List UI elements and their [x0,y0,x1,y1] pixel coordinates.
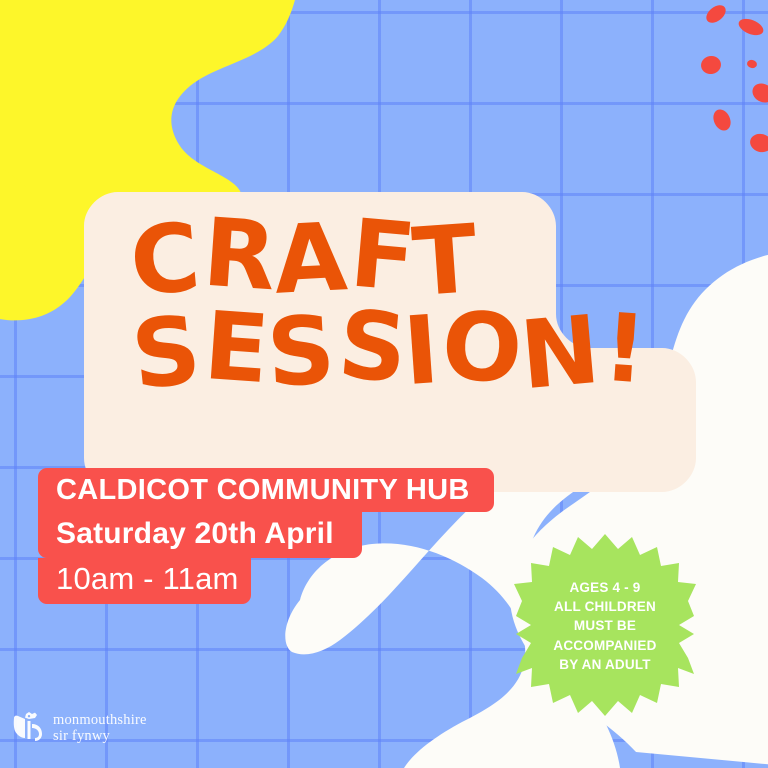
event-date: Saturday 20th April [38,512,362,558]
event-time: 10am - 11am [38,558,251,604]
badge-line-2: ALL CHILDREN [554,597,656,616]
badge-line-4: ACCOMPANIED [553,636,656,655]
event-details: CALDICOT COMMUNITY HUB Saturday 20th Apr… [38,468,494,604]
badge-text-block: AGES 4 - 9 ALL CHILDREN MUST BE ACCOMPAN… [514,534,696,716]
badge-line-1: AGES 4 - 9 [569,578,640,597]
badge-line-3: MUST BE [574,616,636,635]
logo-text: monmouthshire sir fynwy [53,712,147,744]
poster-canvas: CRAFT SESSION! CALDICOT COMMUNITY HUB Sa… [0,0,768,768]
logo-line-english: monmouthshire [53,712,147,728]
monmouthshire-castle-emblem-icon [12,712,46,744]
logo-line-welsh: sir fynwy [53,728,147,744]
status-badge: AGES 4 - 9 ALL CHILDREN MUST BE ACCOMPAN… [514,534,696,716]
logo: monmouthshire sir fynwy [12,712,147,744]
event-venue: CALDICOT COMMUNITY HUB [38,468,494,512]
badge-line-5: BY AN ADULT [559,655,650,674]
